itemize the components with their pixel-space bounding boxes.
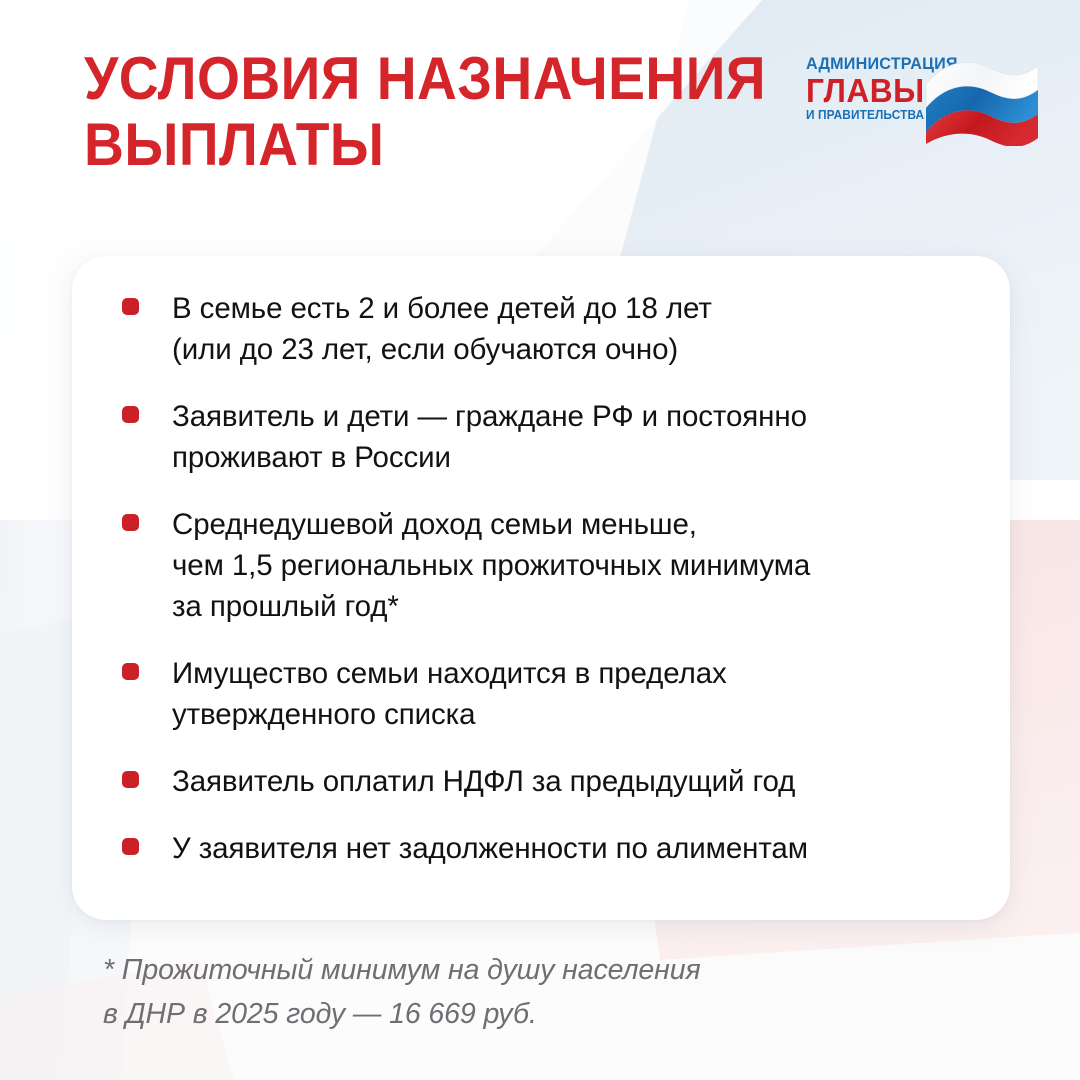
list-item: В семье есть 2 и более детей до 18 лет (… bbox=[122, 288, 1002, 370]
list-item-text: Среднедушевой доход семьи меньше, чем 1,… bbox=[172, 504, 810, 627]
list-item: Среднедушевой доход семьи меньше, чем 1,… bbox=[122, 504, 1002, 627]
list-item: Имущество семьи находится в пределах утв… bbox=[122, 653, 1002, 735]
bullet-marker-icon bbox=[122, 298, 139, 315]
conditions-list: В семье есть 2 и более детей до 18 лет (… bbox=[122, 288, 1002, 869]
list-item: У заявителя нет задолженности по алимент… bbox=[122, 828, 1002, 869]
bullet-marker-icon bbox=[122, 406, 139, 423]
page-title-line-1: УСЛОВИЯ НАЗНАЧЕНИЯ bbox=[84, 46, 728, 112]
list-item-line: У заявителя нет задолженности по алимент… bbox=[172, 828, 808, 869]
footnote-line-2: в ДНР в 2025 году — 16 669 руб. bbox=[103, 992, 1003, 1036]
footnote: * Прожиточный минимум на душу населения … bbox=[103, 948, 1003, 1036]
list-item-line: Среднедушевой доход семьи меньше, bbox=[172, 504, 810, 545]
bullet-marker-icon bbox=[122, 838, 139, 855]
russian-tricolor-flag-icon bbox=[924, 50, 1042, 146]
list-item-line: чем 1,5 региональных прожиточных минимум… bbox=[172, 545, 810, 586]
list-item-line: проживают в России bbox=[172, 437, 807, 478]
page-title-line-2: ВЫПЛАТЫ bbox=[84, 112, 728, 178]
list-item-line: за прошлый год* bbox=[172, 586, 810, 627]
list-item: Заявитель оплатил НДФЛ за предыдущий год bbox=[122, 761, 1002, 802]
bullet-marker-icon bbox=[122, 514, 139, 531]
footnote-line-1: * Прожиточный минимум на душу населения bbox=[103, 948, 1003, 992]
list-item: Заявитель и дети — граждане РФ и постоян… bbox=[122, 396, 1002, 478]
list-item-text: Заявитель оплатил НДФЛ за предыдущий год bbox=[172, 761, 795, 802]
list-item-text: Имущество семьи находится в пределах утв… bbox=[172, 653, 727, 735]
list-item-line: Имущество семьи находится в пределах bbox=[172, 653, 727, 694]
page-title: УСЛОВИЯ НАЗНАЧЕНИЯ ВЫПЛАТЫ bbox=[84, 46, 784, 178]
bullet-marker-icon bbox=[122, 771, 139, 788]
list-item-line: (или до 23 лет, если обучаются очно) bbox=[172, 329, 712, 370]
organization-logo: АДМИНИСТРАЦИЯ ГЛАВЫ И ПРАВИТЕЛЬСТВА ДНР bbox=[806, 54, 1038, 150]
list-item-text: Заявитель и дети — граждане РФ и постоян… bbox=[172, 396, 807, 478]
list-item-line: Заявитель и дети — граждане РФ и постоян… bbox=[172, 396, 807, 437]
list-item-text: В семье есть 2 и более детей до 18 лет (… bbox=[172, 288, 712, 370]
list-item-text: У заявителя нет задолженности по алимент… bbox=[172, 828, 808, 869]
bullet-marker-icon bbox=[122, 663, 139, 680]
list-item-line: В семье есть 2 и более детей до 18 лет bbox=[172, 288, 712, 329]
list-item-line: утвержденного списка bbox=[172, 694, 727, 735]
list-item-line: Заявитель оплатил НДФЛ за предыдущий год bbox=[172, 761, 795, 802]
